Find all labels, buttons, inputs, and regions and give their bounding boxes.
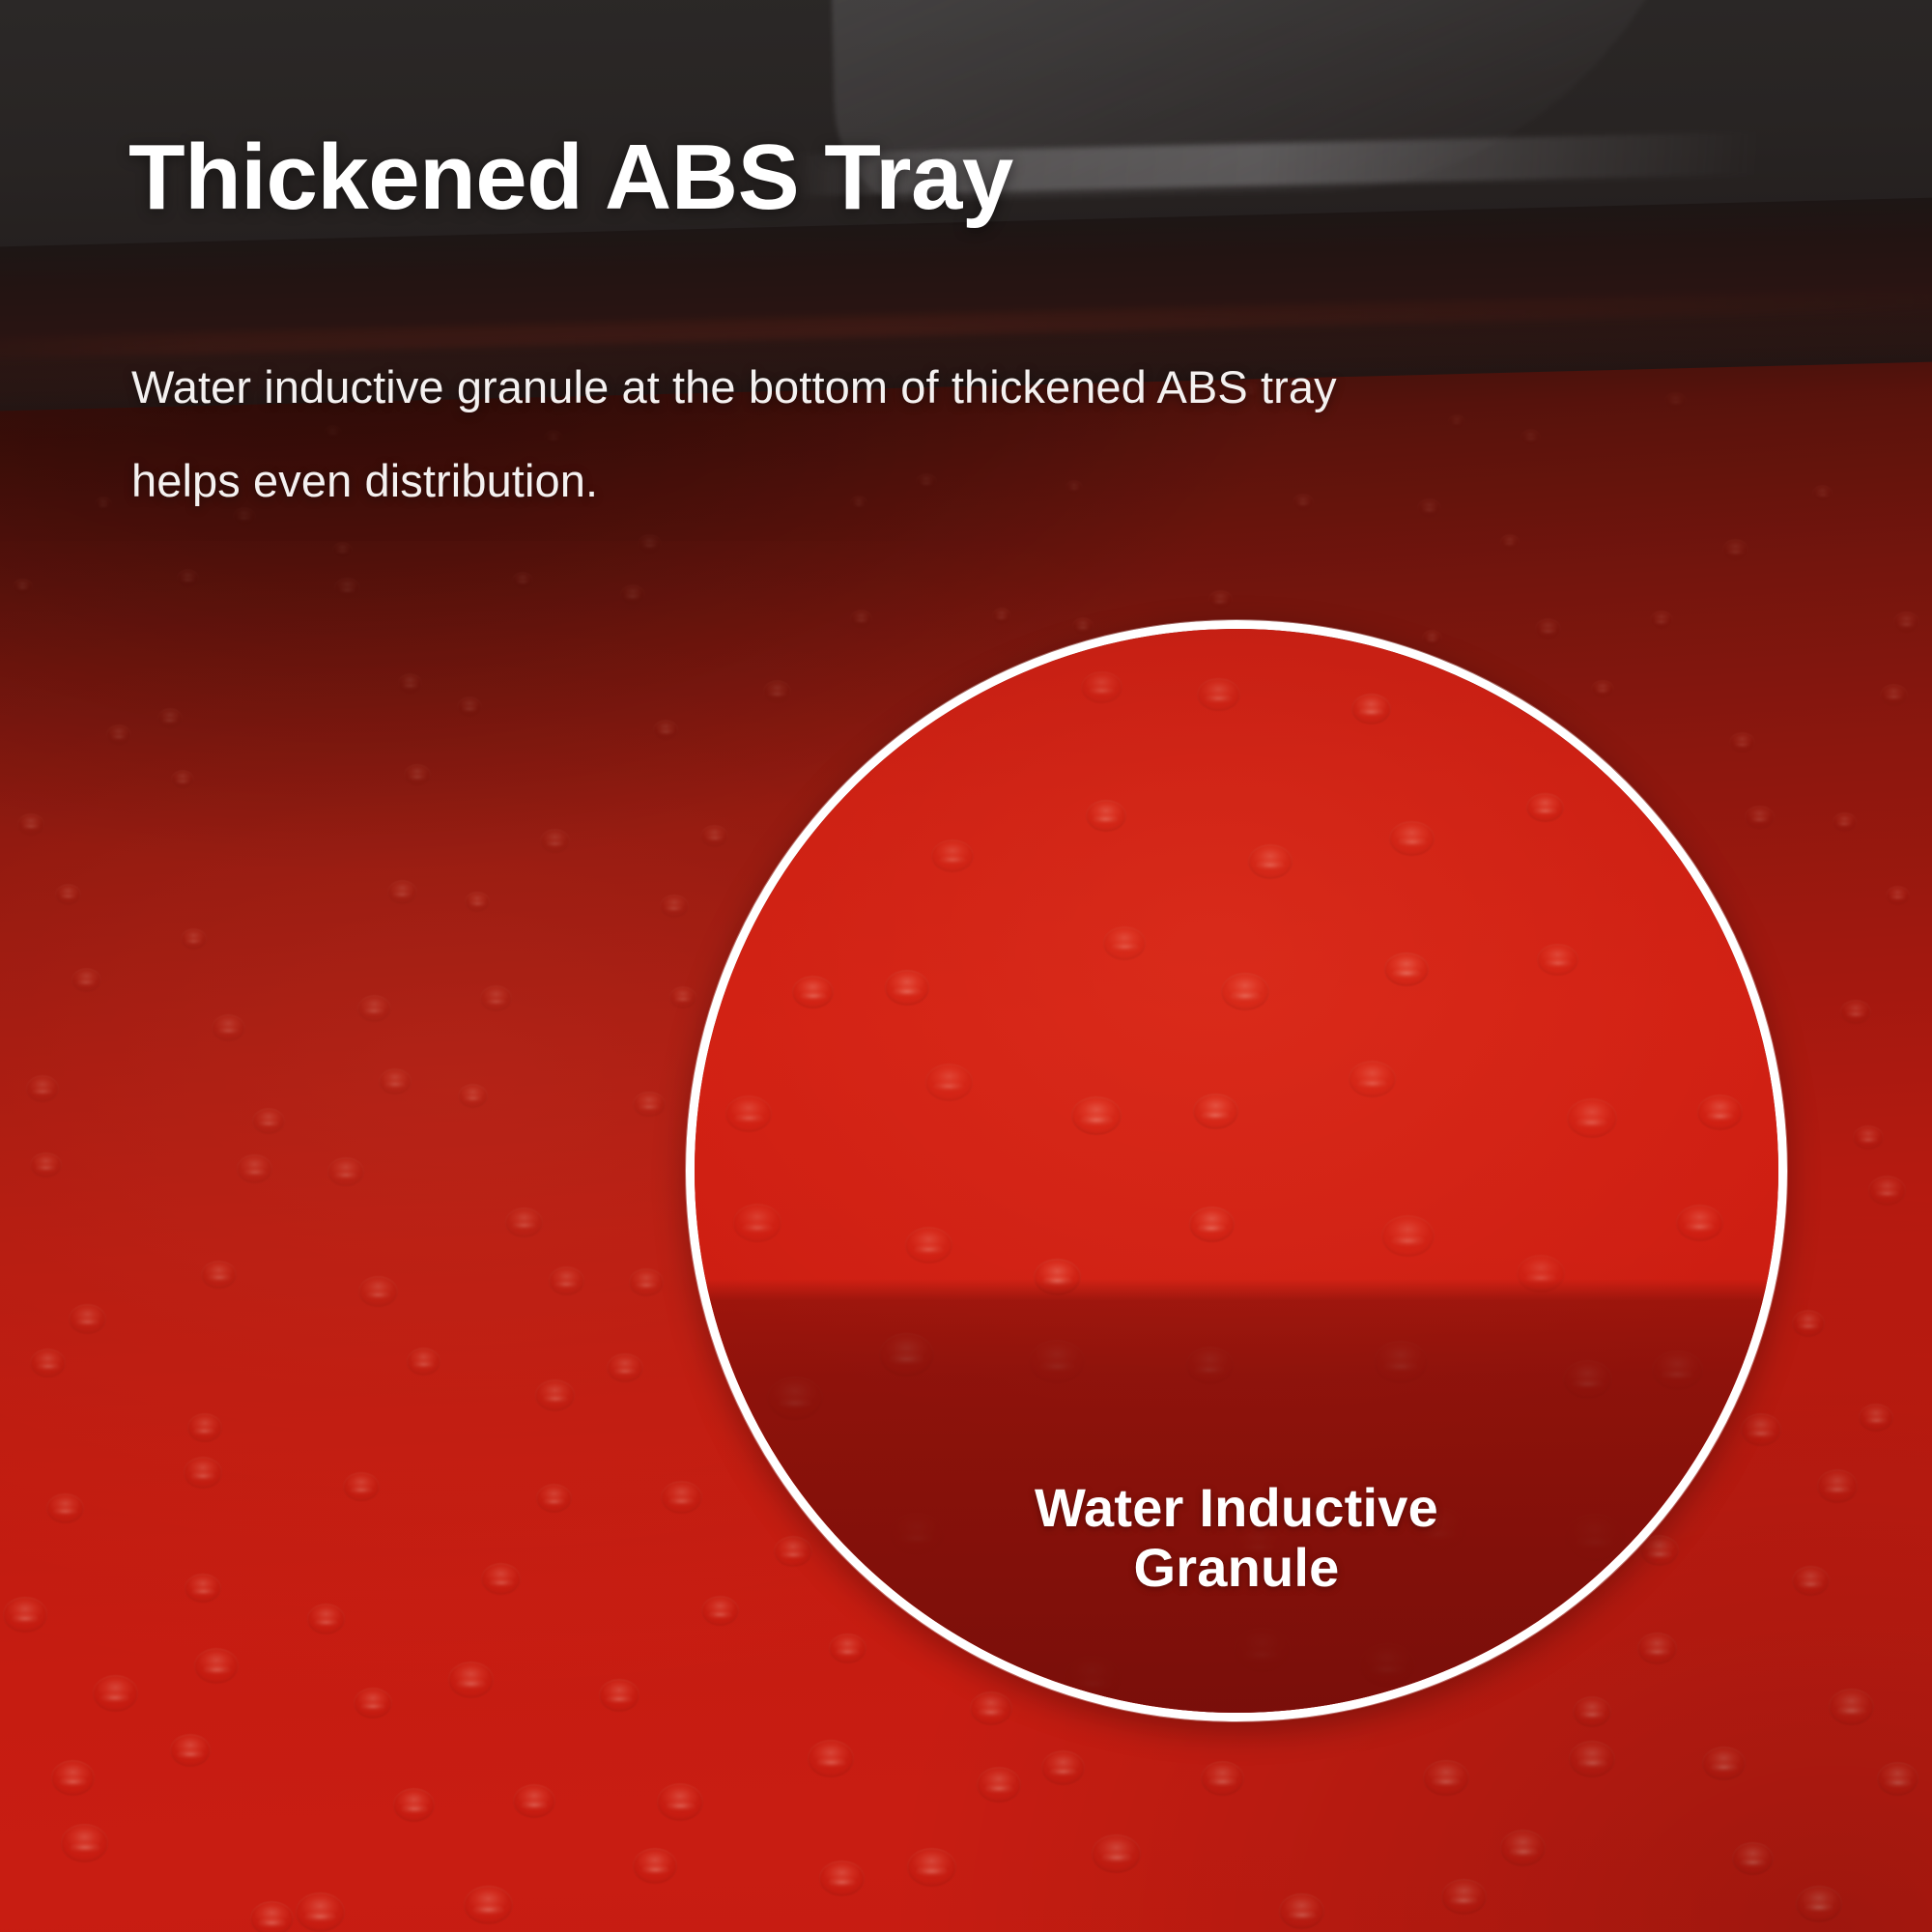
callout-caption-line-2: Granule: [759, 1538, 1713, 1599]
page-subtitle-line-1: Water inductive granule at the bottom of…: [131, 340, 1484, 434]
callout-caption: Water Inductive Granule: [759, 1478, 1713, 1599]
product-feature-banner: Water Inductive Granule Thickened ABS Tr…: [0, 0, 1932, 1932]
page-subtitle: Water inductive granule at the bottom of…: [131, 340, 1484, 528]
page-subtitle-line-2: helps even distribution.: [131, 434, 1484, 527]
callout-caption-line-1: Water Inductive: [759, 1478, 1713, 1539]
page-title: Thickened ABS Tray: [128, 128, 1013, 227]
magnifier-callout: Water Inductive Granule: [686, 620, 1787, 1721]
